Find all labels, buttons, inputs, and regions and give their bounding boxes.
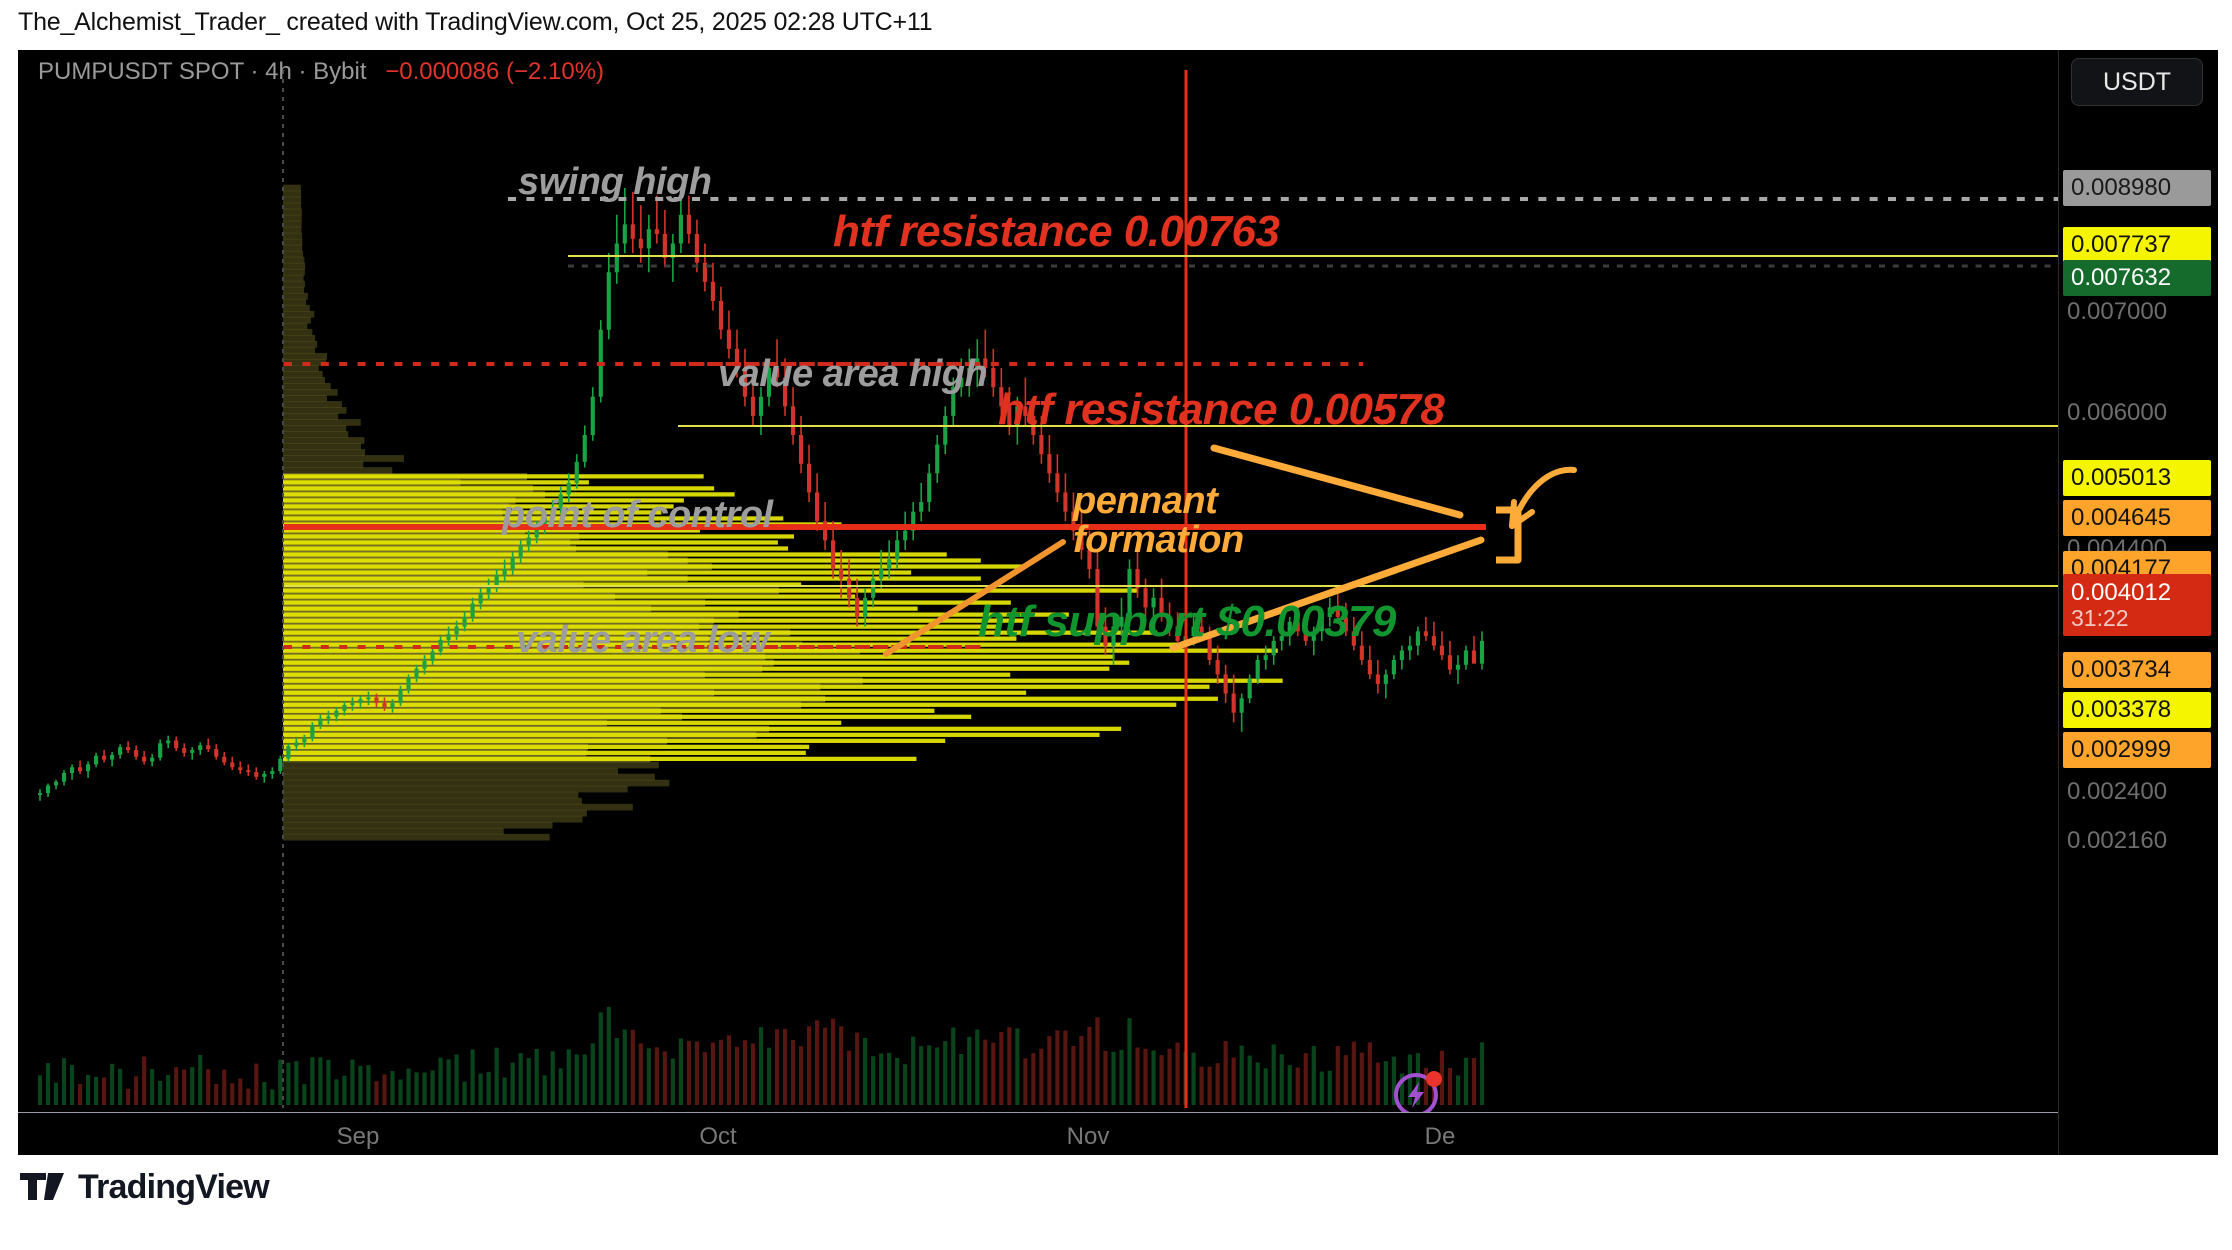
annotation-line: value area low xyxy=(516,621,769,660)
annotation-htf-support[interactable]: htf support $0.00379 xyxy=(978,600,1396,645)
tradingview-logo-icon xyxy=(20,1173,64,1203)
bar-countdown: 31:22 xyxy=(2071,606,2129,630)
annotation-value-area-low[interactable]: value area low xyxy=(516,621,769,660)
price-badge-value: 0.002999 xyxy=(2071,737,2171,762)
currency-pill[interactable]: USDT xyxy=(2071,58,2203,106)
price-level-badge[interactable]: 0.004645 xyxy=(2063,500,2211,536)
screenshot-root: The_Alchemist_Trader_ created with Tradi… xyxy=(0,0,2232,1250)
annotation-line: value area high xyxy=(718,355,987,394)
price-badge-value: 0.005013 xyxy=(2071,465,2171,490)
time-tick: Nov xyxy=(1067,1123,1110,1151)
price-level-badge[interactable]: 0.002999 xyxy=(2063,732,2211,768)
annotation-pennant-formation[interactable]: pennantformation xyxy=(1073,482,1244,560)
price-level-badge[interactable]: 0.008980 xyxy=(2063,170,2211,206)
price-level-badge[interactable]: 0.007632 xyxy=(2063,260,2211,296)
price-badge-value: 0.008980 xyxy=(2071,175,2171,200)
time-axis[interactable]: SepOctNovDe xyxy=(18,1112,2058,1155)
annotation-line: htf resistance 0.00578 xyxy=(998,388,1444,433)
annotation-swing-high[interactable]: swing high xyxy=(518,163,711,202)
annotation-htf-resistance-mid[interactable]: htf resistance 0.00578 xyxy=(998,388,1444,433)
price-level-badge[interactable]: 0.003378 xyxy=(2063,692,2211,728)
price-badge-value: 0.004645 xyxy=(2071,505,2171,530)
price-axis[interactable]: USDT 0.0070000.0060000.0044000.0027000.0… xyxy=(2058,50,2218,1155)
annotation-value-area-high[interactable]: value area high xyxy=(718,355,987,394)
alert-dot-icon xyxy=(1426,1071,1442,1087)
lightning-bolt-icon xyxy=(1408,1082,1424,1108)
price-tick: 0.002160 xyxy=(2067,827,2167,855)
legend-symbol: PUMPUSDT SPOT · 4h · Bybit xyxy=(38,58,367,85)
annotation-htf-resistance-high[interactable]: htf resistance 0.00763 xyxy=(833,210,1279,255)
price-badge-value: 0.003378 xyxy=(2071,697,2171,722)
price-tick: 0.002400 xyxy=(2067,778,2167,806)
pennant-upper-trendline xyxy=(1214,448,1460,515)
annotation-line: pennant xyxy=(1073,482,1244,521)
legend-change: −0.000086 (−2.10%) xyxy=(385,58,604,85)
price-tick: 0.007000 xyxy=(2067,298,2167,326)
footer-brand: TradingView xyxy=(78,1168,269,1207)
annotation-point-of-control[interactable]: point of control xyxy=(502,496,773,535)
chart-legend: PUMPUSDT SPOT · 4h · Bybit −0.000086 (−2… xyxy=(38,58,604,86)
annotation-line: htf support $0.00379 xyxy=(978,600,1396,645)
price-badge-value: 0.003734 xyxy=(2071,657,2171,682)
footer: TradingView xyxy=(20,1168,269,1207)
annotation-line: formation xyxy=(1073,521,1244,560)
price-badge-value: 0.004012 xyxy=(2071,580,2171,605)
price-level-badge[interactable]: 0.005013 xyxy=(2063,460,2211,496)
chart-frame: swing highhtf resistance 0.00763value ar… xyxy=(18,50,2218,1155)
chart-pane[interactable]: swing highhtf resistance 0.00763value ar… xyxy=(18,50,2058,1112)
time-tick: Sep xyxy=(337,1123,380,1151)
lightning-alert-badge[interactable] xyxy=(1393,1066,1445,1112)
time-tick: De xyxy=(1425,1123,1456,1151)
annotation-line: swing high xyxy=(518,163,711,202)
time-tick: Oct xyxy=(699,1123,736,1151)
credit-line: The_Alchemist_Trader_ created with Tradi… xyxy=(18,8,932,37)
current-price-badge[interactable]: 0.00401231:22 xyxy=(2063,574,2211,636)
price-badge-value: 0.007737 xyxy=(2071,232,2171,257)
price-tick: 0.006000 xyxy=(2067,399,2167,427)
price-level-badge[interactable]: 0.007737 xyxy=(2063,227,2211,263)
price-badge-value: 0.007632 xyxy=(2071,265,2171,290)
annotation-line: htf resistance 0.00763 xyxy=(833,210,1279,255)
price-level-badge[interactable]: 0.003734 xyxy=(2063,652,2211,688)
annotation-line: point of control xyxy=(502,496,773,535)
